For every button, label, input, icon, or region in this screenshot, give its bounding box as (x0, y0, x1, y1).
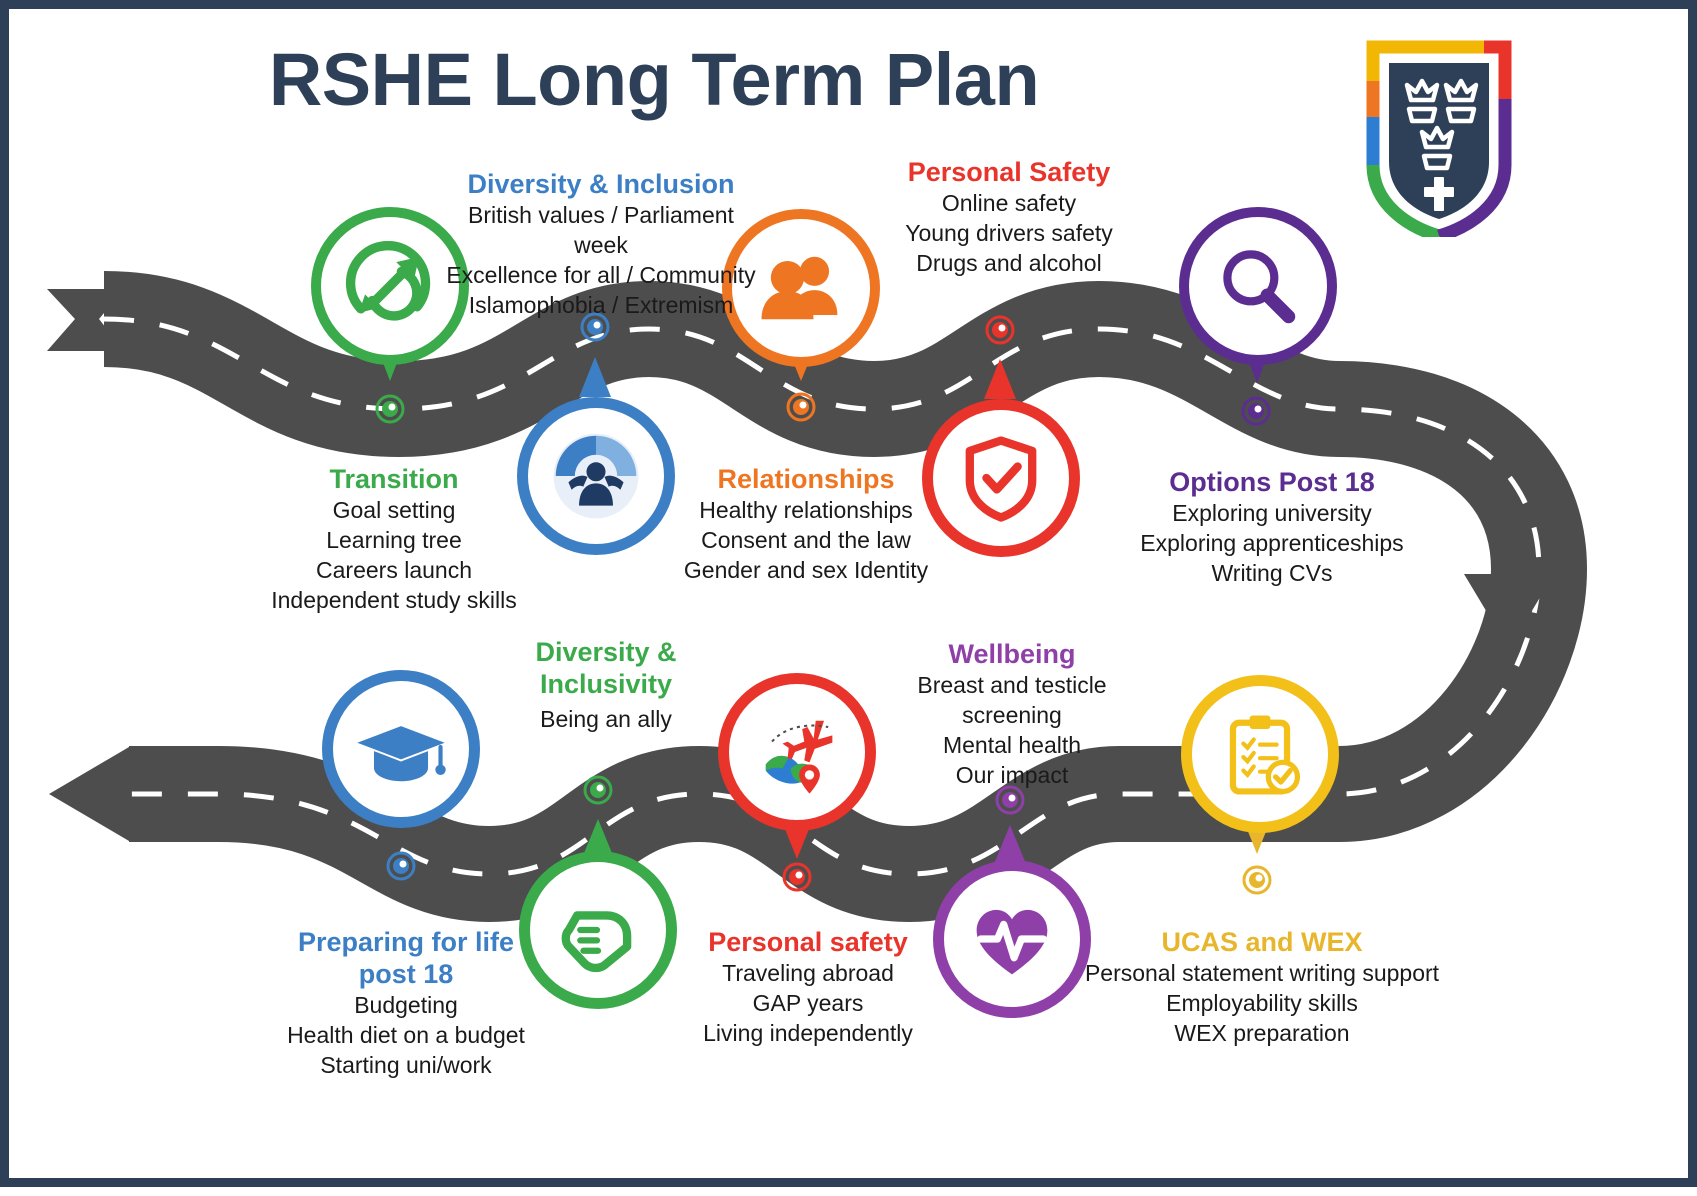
infographic-page: RSHE Long Term Plan (0, 0, 1697, 1187)
block-heading: UCAS and WEX (1077, 927, 1447, 959)
road-arrow-bottom-left (49, 747, 129, 841)
pin-tail-shield (984, 359, 1016, 399)
block-heading-line2: Inclusivity (499, 669, 713, 701)
magnifying-glass-icon (1179, 207, 1337, 365)
block-line: Drugs and alcohol (869, 249, 1149, 279)
block-preparing-for-life-post-18: Preparing for life post 18 Budgeting Hea… (261, 927, 551, 1080)
block-line: Personal statement writing support (1077, 959, 1447, 989)
block-line: Our impact (867, 761, 1157, 791)
block-line: Traveling abroad (667, 959, 949, 989)
marker-personal-safety-bottom (784, 864, 810, 890)
pin-tail-teamwork (579, 357, 611, 397)
block-line: Being an ally (499, 705, 713, 735)
block-line: Employability skills (1077, 989, 1447, 1019)
infographic-canvas: RSHE Long Term Plan (9, 9, 1688, 1178)
block-heading-line2: post 18 (261, 959, 551, 991)
school-crest-logo (1364, 37, 1514, 237)
block-heading: Options Post 18 (1127, 467, 1417, 499)
block-line: Careers launch (261, 556, 527, 586)
marker-transition (377, 396, 403, 422)
travel-plane-icon (718, 673, 876, 831)
block-line: Exploring university (1127, 499, 1417, 529)
road-arrow-right-down (1464, 574, 1554, 649)
block-ucas-and-wex: UCAS and WEX Personal statement writing … (1077, 927, 1447, 1049)
block-heading: Diversity & Inclusion (441, 169, 761, 201)
road-arrow-top-left (47, 289, 124, 351)
teamwork-circle-icon (517, 397, 675, 555)
marker-personal-safety-top (987, 317, 1013, 343)
marker-ucas-wex (1244, 867, 1270, 893)
block-line: Mental health (867, 731, 1157, 761)
block-line: Breast and testicle screening (867, 671, 1157, 731)
block-line: GAP years (667, 989, 949, 1019)
block-line: Gender and sex Identity (671, 556, 941, 586)
block-transition: Transition Goal setting Learning tree Ca… (261, 464, 527, 615)
marker-options-post-18 (1243, 398, 1269, 424)
block-line: Exploring apprenticeships (1127, 529, 1417, 559)
block-line: WEX preparation (1077, 1019, 1447, 1049)
block-relationships: Relationships Healthy relationships Cons… (671, 464, 941, 586)
block-diversity-inclusion: Diversity & Inclusion British values / P… (441, 169, 761, 320)
block-wellbeing: Wellbeing Breast and testicle screening … (867, 639, 1157, 790)
block-options-post-18: Options Post 18 Exploring university Exp… (1127, 467, 1417, 589)
marker-relationships (788, 394, 814, 420)
marker-diversity-inclusivity (585, 777, 611, 803)
block-line: Independent study skills (261, 586, 527, 616)
graduation-cap-icon (322, 670, 480, 828)
block-line: Online safety (869, 189, 1149, 219)
block-line: Health diet on a budget (261, 1021, 551, 1051)
block-diversity-inclusivity: Diversity & Inclusivity Being an ally (499, 637, 713, 735)
block-line: Living independently (667, 1019, 949, 1049)
block-line: Writing CVs (1127, 559, 1417, 589)
checklist-clipboard-icon (1181, 675, 1339, 833)
block-line: Learning tree (261, 526, 527, 556)
block-heading: Transition (261, 464, 527, 496)
block-heading-line1: Diversity & (499, 637, 713, 669)
marker-wellbeing (997, 787, 1023, 813)
block-line: Islamophobia / Extremism (441, 291, 761, 321)
shield-check-icon (922, 399, 1080, 557)
block-heading: Relationships (671, 464, 941, 496)
heartbeat-icon (933, 860, 1091, 1018)
block-personal-safety-top: Personal Safety Online safety Young driv… (869, 157, 1149, 279)
block-line: Goal setting (261, 496, 527, 526)
marker-preparing-life (388, 853, 414, 879)
block-heading: Wellbeing (867, 639, 1157, 671)
block-line: Excellence for all / Community (441, 261, 761, 291)
block-line: Healthy relationships (671, 496, 941, 526)
block-line: British values / Parliament week (441, 201, 761, 261)
block-line: Consent and the law (671, 526, 941, 556)
block-personal-safety-bottom: Personal safety Traveling abroad GAP yea… (667, 927, 949, 1049)
block-line: Young drivers safety (869, 219, 1149, 249)
block-line: Starting uni/work (261, 1051, 551, 1081)
page-title: RSHE Long Term Plan (9, 41, 1299, 119)
pin-tail-heartbeat (994, 825, 1026, 864)
block-heading-line1: Preparing for life (261, 927, 551, 959)
block-heading: Personal Safety (869, 157, 1149, 189)
block-line: Budgeting (261, 991, 551, 1021)
block-heading: Personal safety (667, 927, 949, 959)
